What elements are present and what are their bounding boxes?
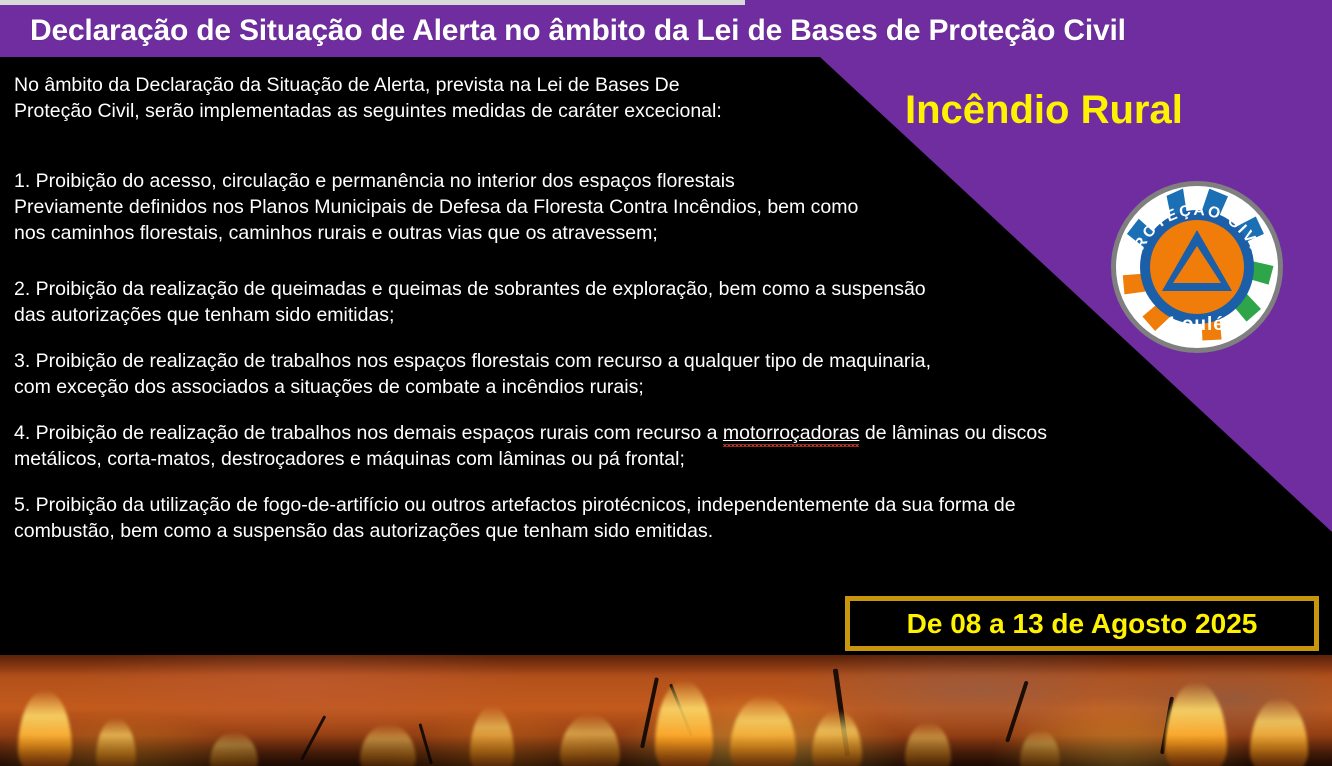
measure-item-4: 4. Proibição de realização de trabalhos …	[14, 420, 1244, 472]
hazard-type-title: Incêndio Rural	[905, 88, 1183, 133]
fire-photo-vignette	[0, 655, 1332, 766]
spellcheck-flagged-word: motorroçadoras	[723, 422, 860, 447]
date-range-text: De 08 a 13 de Agosto 2025	[907, 608, 1258, 640]
measure-item-5: 5. Proibição da utilização de fogo-de-ar…	[14, 492, 1244, 544]
wildfire-photo	[0, 655, 1332, 766]
header-bar: Declaração de Situação de Alerta no âmbi…	[0, 5, 1332, 57]
alert-poster: Declaração de Situação de Alerta no âmbi…	[0, 0, 1332, 766]
protecao-civil-loule-logo: PROTEÇÃO CIVIL Loulé	[1108, 178, 1286, 356]
measure-item-4-prefix: 4. Proibição de realização de trabalhos …	[14, 422, 723, 444]
page-title: Declaração de Situação de Alerta no âmbi…	[0, 14, 1126, 48]
top-divider-line	[0, 0, 745, 5]
logo-bottom-text: Loulé	[1169, 314, 1225, 335]
measure-item-2: 2. Proibição da realização de queimadas …	[14, 276, 1244, 328]
measures-text-block: No âmbito da Declaração da Situação de A…	[14, 72, 1244, 544]
measure-item-3: 3. Proibição de realização de trabalhos …	[14, 348, 1244, 400]
measure-item-1: 1. Proibição do acesso, circulação e per…	[14, 168, 1244, 246]
date-range-badge: De 08 a 13 de Agosto 2025	[845, 596, 1319, 651]
